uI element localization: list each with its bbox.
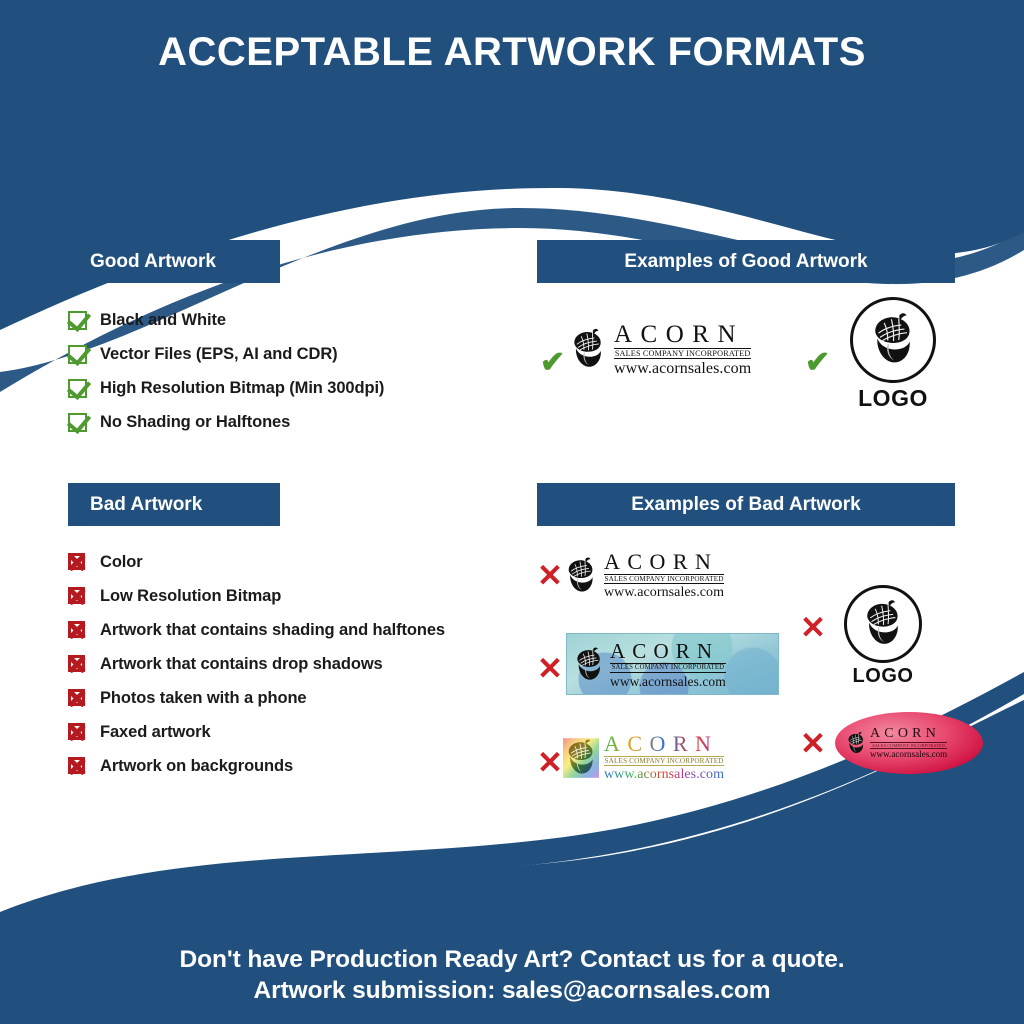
acorn-icon — [860, 598, 906, 650]
red-x-icon — [68, 621, 87, 640]
red-x-icon — [68, 655, 87, 674]
acorn-logo-bad-background: ACORN SALES COMPANY INCORPORATED www.aco… — [566, 633, 779, 695]
infographic-page: ACCEPTABLE ARTWORK FORMATS Good Artwork … — [0, 0, 1024, 1024]
acorn-tagline: SALES COMPANY INCORPORATED — [610, 663, 726, 673]
list-item: Low Resolution Bitmap — [68, 579, 538, 613]
footer: Don't have Production Ready Art? Contact… — [0, 944, 1024, 1006]
acorn-circle-logo-bad: LOGO — [835, 585, 931, 688]
green-check-icon — [68, 311, 87, 330]
acorn-wordmark: ACORN — [604, 551, 724, 573]
acorn-tagline: SALES COMPANY INCORPORATED — [604, 756, 724, 766]
bad-artwork-list: Color Low Resolution Bitmap Artwork that… — [68, 545, 538, 783]
bad-example-x-icon-3: ✕ — [537, 653, 563, 684]
acorn-url: www.acornsales.com — [604, 768, 724, 782]
list-item-label: Faxed artwork — [100, 723, 211, 742]
footer-line-1: Don't have Production Ready Art? Contact… — [0, 944, 1024, 975]
red-x-icon — [68, 723, 87, 742]
acorn-icon — [867, 311, 919, 369]
list-item: Black and White — [68, 303, 508, 337]
bad-example-x-icon-1: ✕ — [537, 560, 563, 591]
acorn-url: www.acornsales.com — [614, 361, 751, 377]
good-artwork-list: Black and White Vector Files (EPS, AI an… — [68, 303, 508, 439]
list-item: Artwork on backgrounds — [68, 749, 538, 783]
section-header-good-artwork: Good Artwork — [68, 240, 280, 283]
acorn-circle-logo-good: LOGO — [845, 297, 941, 412]
list-item: No Shading or Halftones — [68, 405, 508, 439]
acorn-icon — [563, 556, 599, 596]
good-example-check-icon-1: ✔ — [540, 348, 565, 378]
list-item-label: Artwork on backgrounds — [100, 757, 293, 776]
page-title: ACCEPTABLE ARTWORK FORMATS — [0, 30, 1024, 75]
bad-example-x-icon-5: ✕ — [537, 747, 563, 778]
acorn-tagline: SALES COMPANY INCORPORATED — [604, 574, 724, 584]
list-item-label: Artwork that contains drop shadows — [100, 655, 383, 674]
list-item-label: Low Resolution Bitmap — [100, 587, 281, 606]
circle-logo-caption: LOGO — [845, 385, 941, 412]
list-item: Vector Files (EPS, AI and CDR) — [68, 337, 508, 371]
acorn-tagline: SALES COMPANY INCORPORATED — [614, 348, 751, 359]
section-header-examples-good: Examples of Good Artwork — [537, 240, 955, 283]
circle-outline — [844, 585, 922, 663]
acorn-logo-good-1: ACORN SALES COMPANY INCORPORATED www.aco… — [568, 322, 751, 377]
acorn-wordmark: ACORN — [610, 641, 726, 662]
section-header-examples-bad-label: Examples of Bad Artwork — [631, 494, 860, 516]
list-item-label: Vector Files (EPS, AI and CDR) — [100, 345, 338, 364]
list-item-label: Artwork that contains shading and halfto… — [100, 621, 445, 640]
acorn-url: www.acornsales.com — [870, 750, 947, 759]
list-item-label: High Resolution Bitmap (Min 300dpi) — [100, 379, 384, 398]
bad-example-x-icon-2: ✕ — [800, 612, 826, 643]
section-header-examples-bad: Examples of Bad Artwork — [537, 483, 955, 526]
list-item-label: Photos taken with a phone — [100, 689, 307, 708]
acorn-url: www.acornsales.com — [610, 675, 726, 689]
list-item-label: No Shading or Halftones — [100, 413, 290, 432]
acorn-url: www.acornsales.com — [604, 586, 724, 600]
acorn-logo-bad-lowres: ACORN SALES COMPANY INCORPORATED www.aco… — [563, 551, 724, 600]
list-item: Artwork that contains drop shadows — [68, 647, 538, 681]
red-x-icon — [68, 689, 87, 708]
acorn-logo-bad-color: ACORN SALES COMPANY INCORPORATED www.aco… — [563, 733, 724, 782]
good-example-check-icon-2: ✔ — [805, 348, 830, 378]
list-item-label: Color — [100, 553, 143, 572]
acorn-wordmark: ACORN — [870, 727, 947, 741]
bad-example-x-icon-4: ✕ — [800, 728, 826, 759]
circle-logo-caption: LOGO — [835, 665, 931, 688]
red-x-icon — [68, 587, 87, 606]
acorn-icon — [845, 731, 867, 756]
list-item: Artwork that contains shading and halfto… — [68, 613, 538, 647]
list-item: Faxed artwork — [68, 715, 538, 749]
acorn-wordmark: ACORN — [614, 322, 751, 347]
section-header-bad-artwork-label: Bad Artwork — [90, 494, 202, 516]
section-header-examples-good-label: Examples of Good Artwork — [624, 251, 867, 273]
list-item: Color — [68, 545, 538, 579]
list-item: High Resolution Bitmap (Min 300dpi) — [68, 371, 508, 405]
red-x-icon — [68, 553, 87, 572]
green-check-icon — [68, 413, 87, 432]
acorn-tagline: SALES COMPANY INCORPORATED — [870, 742, 947, 749]
list-item-label: Black and White — [100, 311, 226, 330]
acorn-icon — [572, 646, 606, 684]
acorn-icon — [568, 327, 608, 372]
acorn-wordmark: ACORN — [604, 733, 724, 755]
list-item: Photos taken with a phone — [68, 681, 538, 715]
acorn-logo-bad-pink-background: ACORN SALES COMPANY INCORPORATED www.aco… — [835, 712, 983, 774]
green-check-icon — [68, 345, 87, 364]
footer-line-2: Artwork submission: sales@acornsales.com — [0, 975, 1024, 1006]
section-header-good-artwork-label: Good Artwork — [90, 251, 216, 273]
red-x-icon — [68, 757, 87, 776]
circle-outline — [850, 297, 936, 383]
acorn-icon-rainbow — [563, 738, 599, 778]
green-check-icon — [68, 379, 87, 398]
section-header-bad-artwork: Bad Artwork — [68, 483, 280, 526]
